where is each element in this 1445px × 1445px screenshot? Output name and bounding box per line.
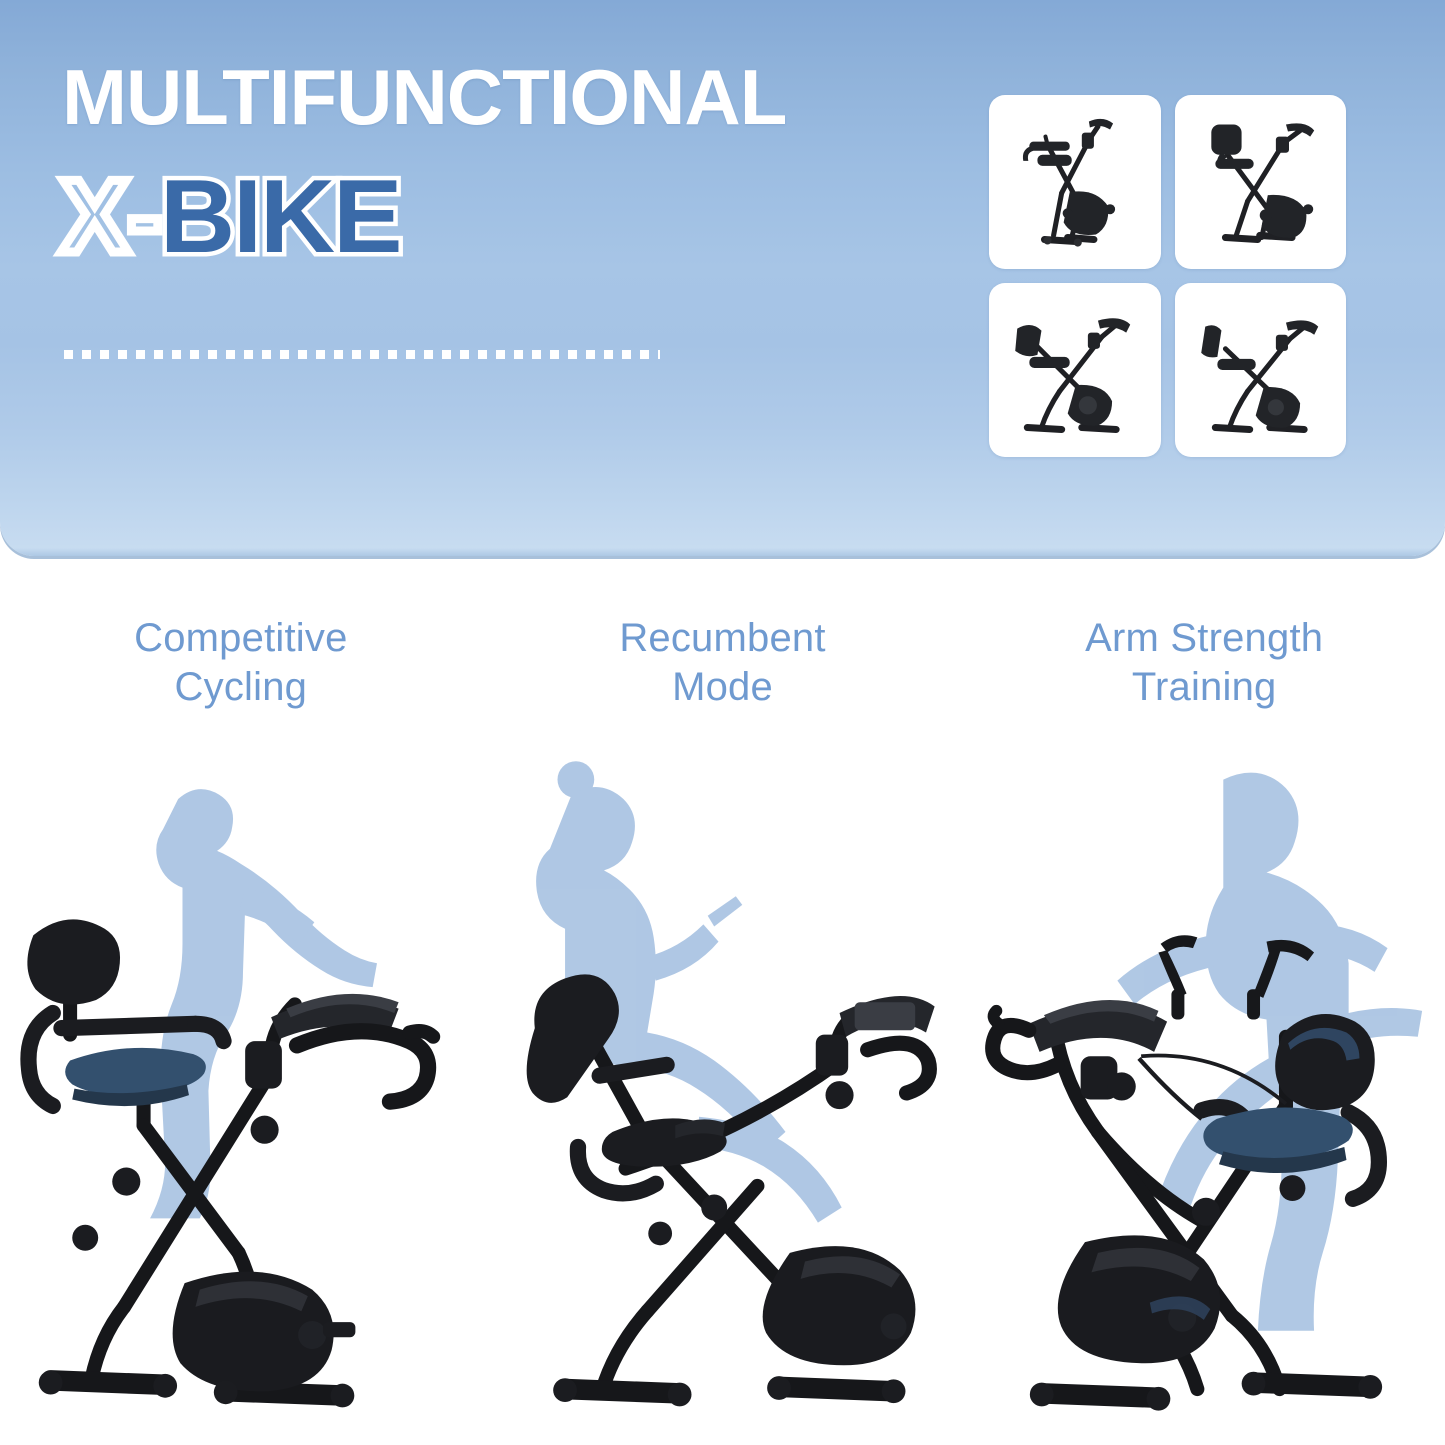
- dotted-divider: [64, 350, 660, 359]
- thumbnail-card-1[interactable]: [989, 95, 1161, 269]
- wordmark-x-part: X-: [60, 163, 160, 272]
- bike-backrest: [1276, 1014, 1376, 1110]
- thumbnail-grid: [989, 95, 1346, 457]
- feature-label-recumbent-mode: Recumbent Mode: [619, 614, 825, 712]
- bike-console: [1029, 1000, 1167, 1100]
- title-block: MULTIFUNCTIONAL: [62, 58, 922, 136]
- product-wordmark: X-BIKE: [60, 163, 400, 272]
- bike-backrest: [526, 974, 618, 1103]
- x-bike-rear-quarter-view-icon: [1175, 95, 1347, 269]
- page-title: MULTIFUNCTIONAL: [62, 58, 922, 136]
- scene-recumbent-mode: [482, 745, 964, 1415]
- thumbnail-card-3[interactable]: [989, 283, 1161, 457]
- thumbnail-card-4[interactable]: [1175, 283, 1347, 457]
- feature-column-arm-strength-training: Arm Strength Training: [963, 614, 1445, 712]
- feature-label-competitive-cycling: Competitive Cycling: [134, 614, 347, 712]
- bike-flywheel-housing: [1058, 1235, 1220, 1363]
- arm-strength-training-illustration: [963, 745, 1445, 1415]
- feature-column-recumbent-mode: Recumbent Mode: [482, 614, 964, 712]
- resistance-knob: [251, 1116, 279, 1144]
- resistance-knob: [825, 1081, 853, 1109]
- bike-seat: [1204, 1108, 1353, 1174]
- bike-handlebar: [867, 1043, 929, 1093]
- bike-handlebar: [297, 1031, 433, 1102]
- bike-flywheel-housing: [762, 1246, 915, 1365]
- bike-backrest: [27, 919, 120, 1004]
- height-adjust-knob: [72, 1225, 98, 1251]
- frame-lock-knob: [1192, 1198, 1220, 1226]
- scene-arm-strength-training: [963, 745, 1445, 1415]
- frame-lock-knob: [112, 1168, 140, 1196]
- scene-competitive-cycling: [0, 745, 482, 1415]
- bike-pedal: [880, 1313, 906, 1339]
- height-adjust-knob: [1280, 1175, 1306, 1201]
- feature-label-row: Competitive Cycling Recumbent Mode Arm S…: [0, 614, 1445, 712]
- scene-illustration-row: [0, 745, 1445, 1415]
- recumbent-mode-illustration: [482, 745, 964, 1415]
- bike-console: [815, 996, 934, 1076]
- thumbnail-card-2[interactable]: [1175, 95, 1347, 269]
- x-bike-side-view-left-icon: [989, 283, 1161, 457]
- wordmark-bike-part: BIKE: [160, 163, 400, 272]
- header-banner: MULTIFUNCTIONAL X-BIKE: [0, 0, 1445, 556]
- bike-seat: [601, 1118, 726, 1166]
- x-bike-side-view-right-icon: [1175, 283, 1347, 457]
- competitive-cycling-illustration: [0, 745, 482, 1415]
- resistance-knob: [1108, 1072, 1136, 1100]
- feature-label-arm-strength-training: Arm Strength Training: [1085, 614, 1323, 712]
- frame-lock-knob: [701, 1195, 727, 1221]
- x-bike-front-quarter-view-icon: [989, 95, 1161, 269]
- feature-column-competitive-cycling: Competitive Cycling: [0, 614, 482, 712]
- height-adjust-knob: [648, 1222, 672, 1246]
